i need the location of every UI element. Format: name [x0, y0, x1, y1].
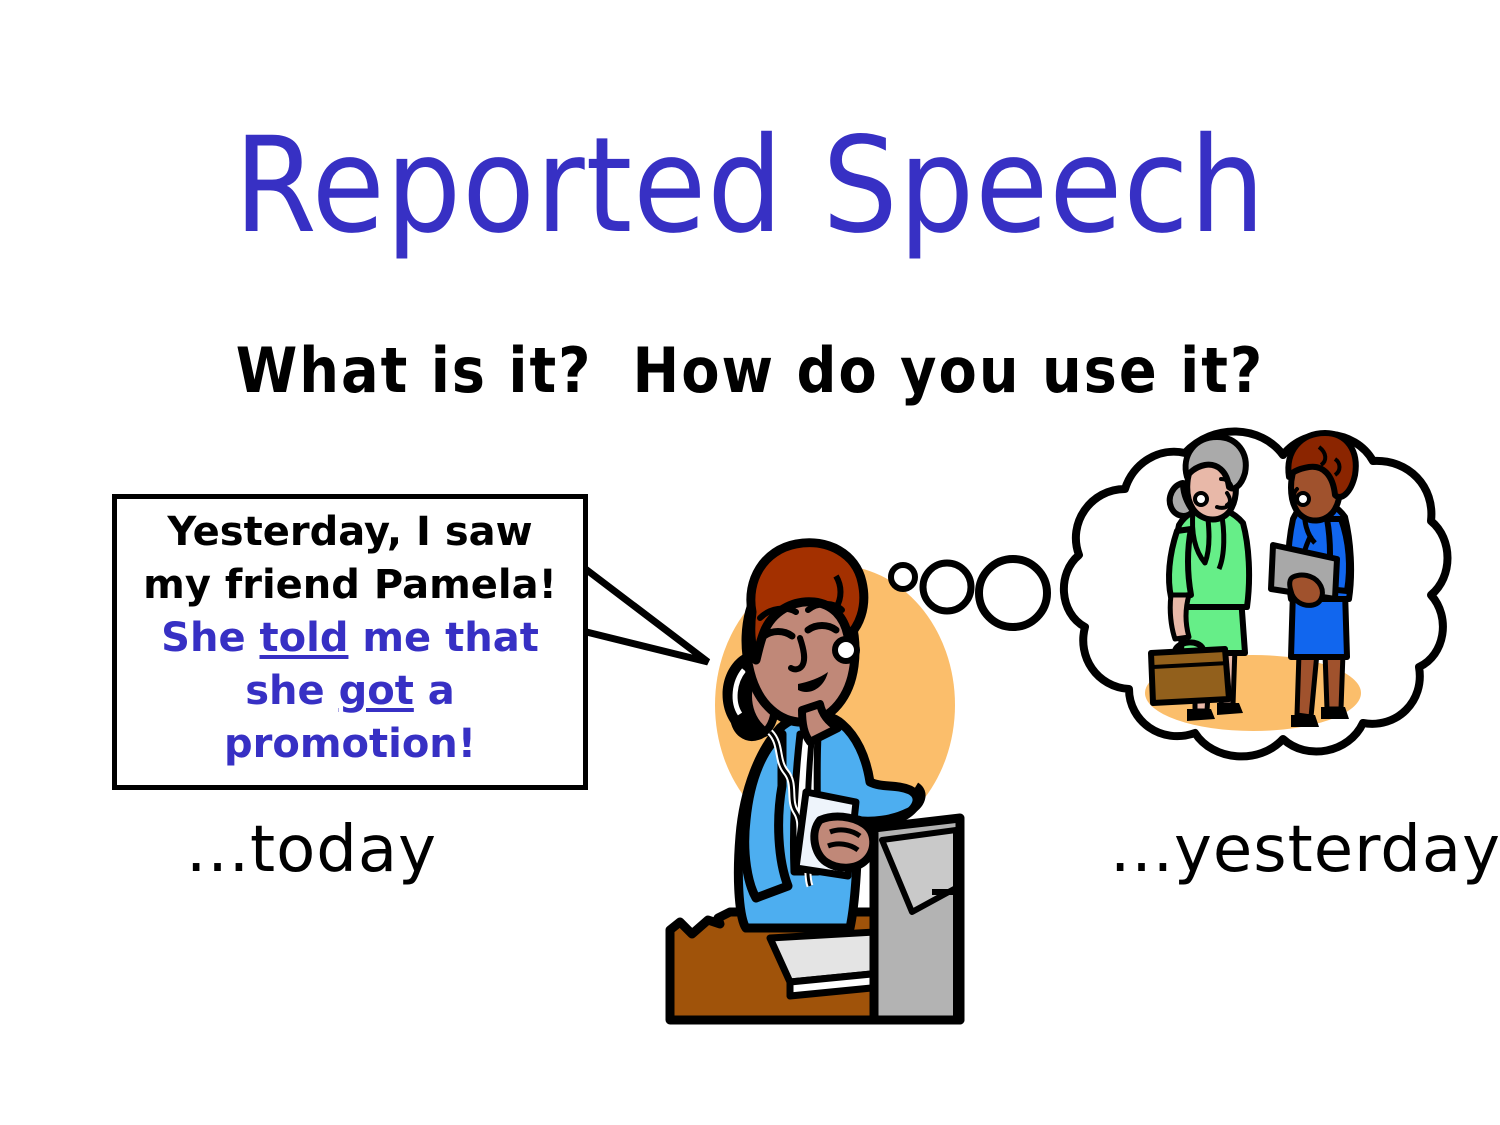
speech-balloon: Yesterday, I saw my friend Pamela! She t… — [112, 494, 588, 790]
speech-line-3-underlined-verb: told — [260, 615, 349, 661]
speech-line-4: she got a — [112, 665, 588, 718]
slide-canvas: Reported Speech What is it?How do you us… — [0, 0, 1500, 1125]
speech-line-4-underlined-verb: got — [339, 668, 414, 714]
subtitle-question-2: How do you use it? — [633, 334, 1265, 407]
speech-line-3: She told me that — [112, 612, 588, 665]
caption-yesterday: ...yesterday — [1110, 818, 1500, 882]
subtitle-question-1: What is it? — [236, 334, 593, 407]
speech-line-4-suffix: a — [414, 668, 455, 714]
speech-line-4-prefix: she — [245, 668, 338, 714]
speech-line-1: Yesterday, I saw — [112, 506, 588, 559]
page-title: Reported Speech — [0, 120, 1500, 252]
thought-bubble-illustration — [1035, 415, 1455, 825]
speech-line-3-suffix: me that — [348, 615, 538, 661]
caption-today: ...today — [186, 818, 437, 882]
speech-line-3-prefix: She — [161, 615, 259, 661]
speech-line-5: promotion! — [112, 718, 588, 771]
speech-line-2: my friend Pamela! — [112, 559, 588, 612]
subtitle: What is it?How do you use it? — [0, 340, 1500, 402]
speech-balloon-text: Yesterday, I saw my friend Pamela! She t… — [112, 506, 588, 771]
thought-bubble-icon — [1035, 415, 1455, 825]
